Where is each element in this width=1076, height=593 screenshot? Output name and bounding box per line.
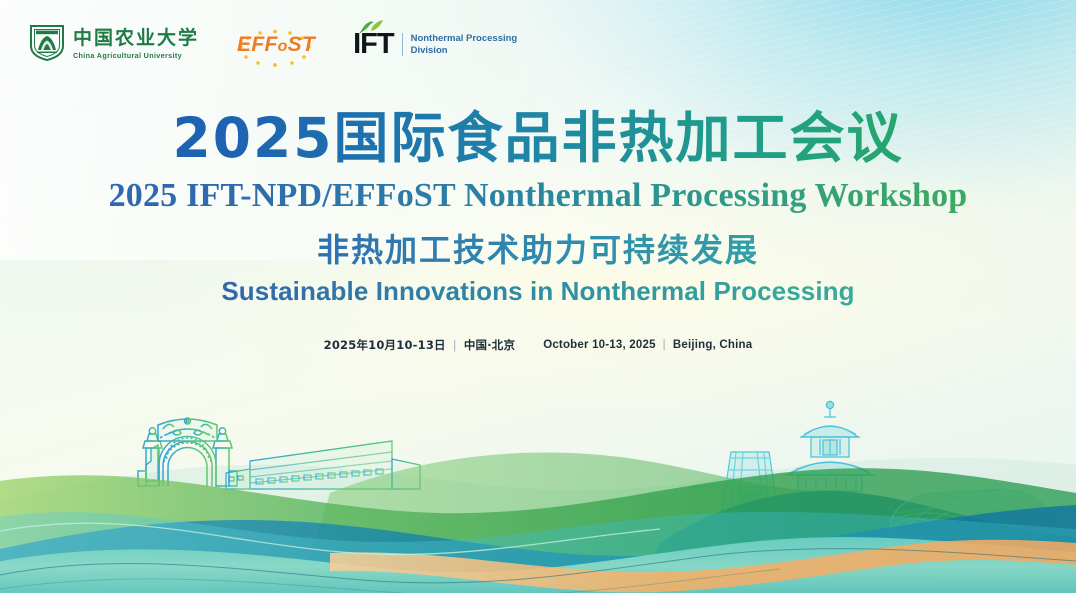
location-cn: 中国·北京 [464,337,515,353]
meta-separator-en: | [663,339,666,351]
date-location-en: October 10-13, 2025 | Beijing, China [543,339,752,351]
conference-banner: 中国农业大学 China Agricultural University [0,0,1076,593]
skyline-illustration [0,353,1076,593]
green-leaf-icon [359,19,385,38]
date-location-row: 2025年10月10-13日 | 中国·北京 October 10-13, 20… [0,337,1076,353]
logo-china-agricultural-university: 中国农业大学 China Agricultural University [28,22,199,67]
date-location-cn: 2025年10月10-13日 | 中国·北京 [324,337,516,353]
conference-title-cn: 2025国际食品非热加工会议 [0,108,1076,170]
title-block: 2025国际食品非热加工会议 2025 IFT-NPD/EFFoST Nonth… [0,108,1076,307]
effost-part-1: EFF [237,33,278,56]
effost-wordmark: EFFoST [237,33,315,56]
ift-division-name: Nonthermal Processing Division [402,33,518,57]
ift-division-line-2: Division [411,45,518,57]
date-en: October 10-13, 2025 [543,339,655,351]
conference-theme-cn: 非热加工技术助力可持续发展 [0,232,1076,269]
location-en: Beijing, China [673,339,752,351]
logo-effost: EFFoST [225,28,327,62]
conference-title-en: 2025 IFT-NPD/EFFoST Nonthermal Processin… [0,176,1076,215]
logo-bar: 中国农业大学 China Agricultural University [28,22,517,67]
meta-separator-cn: | [453,338,457,352]
effost-part-3: ST [288,33,315,56]
cau-name-en: China Agricultural University [73,52,199,59]
conference-theme-en: Sustainable Innovations in Nonthermal Pr… [0,277,1076,307]
cau-name-cn: 中国农业大学 [73,29,199,48]
logo-ift-npd: IFT Nonthermal Processing Division [353,30,517,59]
date-cn: 2025年10月10-13日 [324,337,446,353]
ift-division-line-1: Nonthermal Processing [411,33,518,45]
effost-part-2: o [278,38,288,55]
cau-shield-emblem-icon [28,22,66,67]
